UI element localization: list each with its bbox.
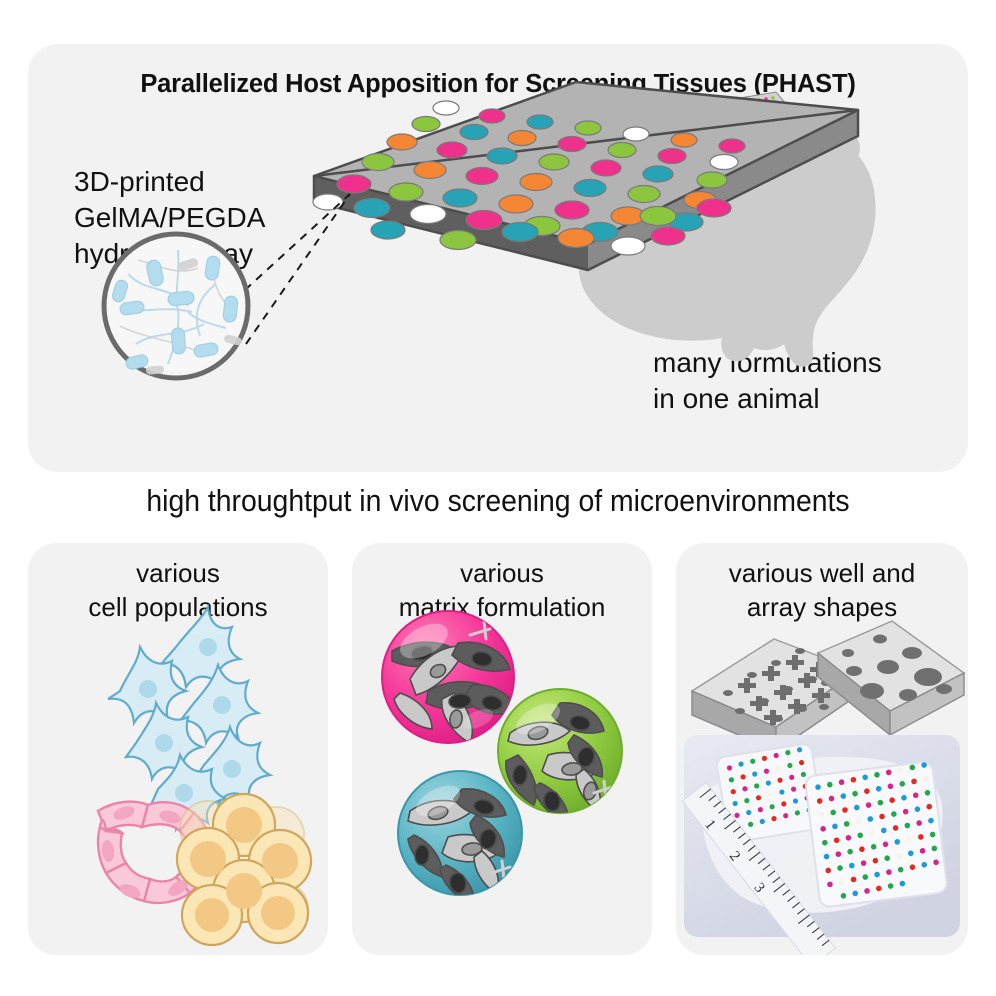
well-shapes-illustration: 1 2 3 — [676, 543, 968, 955]
matrix-droplet-green — [498, 689, 622, 823]
hero-panel: Parallelized Host Apposition for Screeni… — [28, 44, 968, 472]
hydrogel-inset-circle — [104, 234, 248, 378]
panel-cell-populations: variouscell populations — [28, 543, 328, 955]
matrix-droplet-teal — [398, 771, 522, 905]
photo-array-large — [805, 761, 948, 908]
cell-populations-illustration — [28, 543, 328, 955]
array-block-round-wells — [818, 621, 964, 735]
panel-well-array-shapes: various well andarray shapes — [676, 543, 968, 955]
hydrogel-array-photograph: 1 2 3 — [682, 735, 960, 955]
panel-matrix-formulation: variousmatrix formulation — [352, 543, 652, 955]
banner-text: high throughtput in vivo screening of mi… — [35, 484, 961, 519]
matrix-droplet-pink — [382, 611, 516, 743]
matrix-formulation-illustration — [352, 543, 652, 955]
graphical-abstract: Parallelized Host Apposition for Screeni… — [0, 0, 996, 996]
inset-leader-lines — [234, 194, 350, 344]
hero-illustration — [28, 44, 968, 472]
spheroid-cluster — [177, 794, 311, 945]
